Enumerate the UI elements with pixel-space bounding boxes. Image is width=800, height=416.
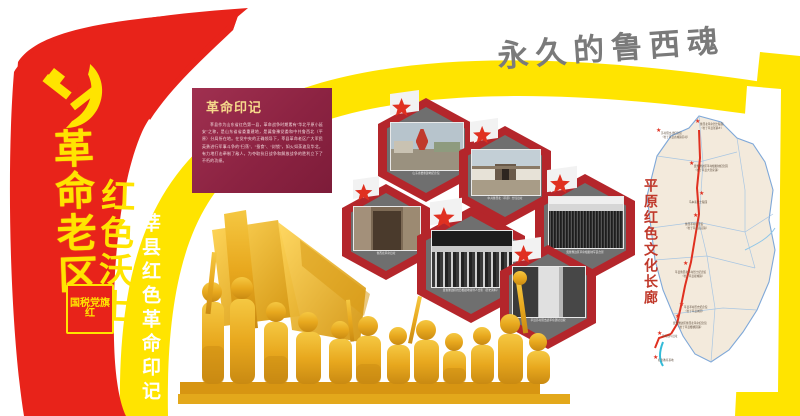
map-site-sub: （位于莘县燕店镇） <box>685 226 708 230</box>
map-site-sub: （位于莘县张寨乡） <box>700 126 723 130</box>
red-star-icon <box>391 96 412 119</box>
map-site-sub: （位于莘县古城镇苏村） <box>661 135 690 139</box>
poster-canvas: 革命老区 红色沃土 莘县红色革命印记 国税党旗红 永久的鲁西魂 革命印记 莘县作… <box>0 0 800 416</box>
map-star-icon: ★ <box>699 192 704 197</box>
map-site-sub: （位于莘县观城镇） <box>681 274 704 278</box>
seal-text: 国税党旗红 <box>68 299 112 320</box>
revolution-intro-panel: 革命印记 莘县作为山东省红色第一县，革命战争时期素有“华北平原小延安”之称，是山… <box>192 88 332 193</box>
map-site-sub: （位于莘县城区） <box>684 309 705 313</box>
map-star-icon: ★ <box>693 214 698 219</box>
revolutionary-heroes-monument-sculpture <box>150 196 570 416</box>
red-culture-corridor-map: ★ 苏村阻击战纪念馆 （位于莘县古城镇苏村） ★ 鲁西北革命烈士陵园 （位于莘县… <box>637 110 797 372</box>
panel-title: 革命印记 <box>206 97 262 116</box>
banner-brush-title-primary: 革命老区 <box>49 127 95 296</box>
red-star-icon <box>549 172 571 196</box>
panel-body-text: 莘县作为山东省红色第一县，革命战争时期素有“华北平原小延安”之称，是山东省省委重… <box>202 121 323 164</box>
map-site-label: 苏村战斗旧址 <box>662 334 678 338</box>
photo-image <box>390 122 463 171</box>
red-star-icon <box>472 124 492 146</box>
red-seal-stamp: 国税党旗红 <box>66 284 114 334</box>
map-site-label: 马本斋烈士陵园 <box>689 200 707 204</box>
map-star-icon: ★ <box>675 315 680 320</box>
map-site-label: 红色教育基地 <box>658 358 674 362</box>
cpc-hammer-sickle-emblem <box>40 58 112 132</box>
map-site-sub: （位于莘县大张家镇） <box>694 168 720 172</box>
map-star-icon: ★ <box>683 262 688 267</box>
photo-image <box>471 149 541 196</box>
map-site-sub: （位于莘县樱桃园镇） <box>677 325 703 329</box>
map-title: 平原红色文化长廊 <box>640 178 660 306</box>
photo-caption: 山东省委重建地纪念馆 <box>388 172 465 176</box>
